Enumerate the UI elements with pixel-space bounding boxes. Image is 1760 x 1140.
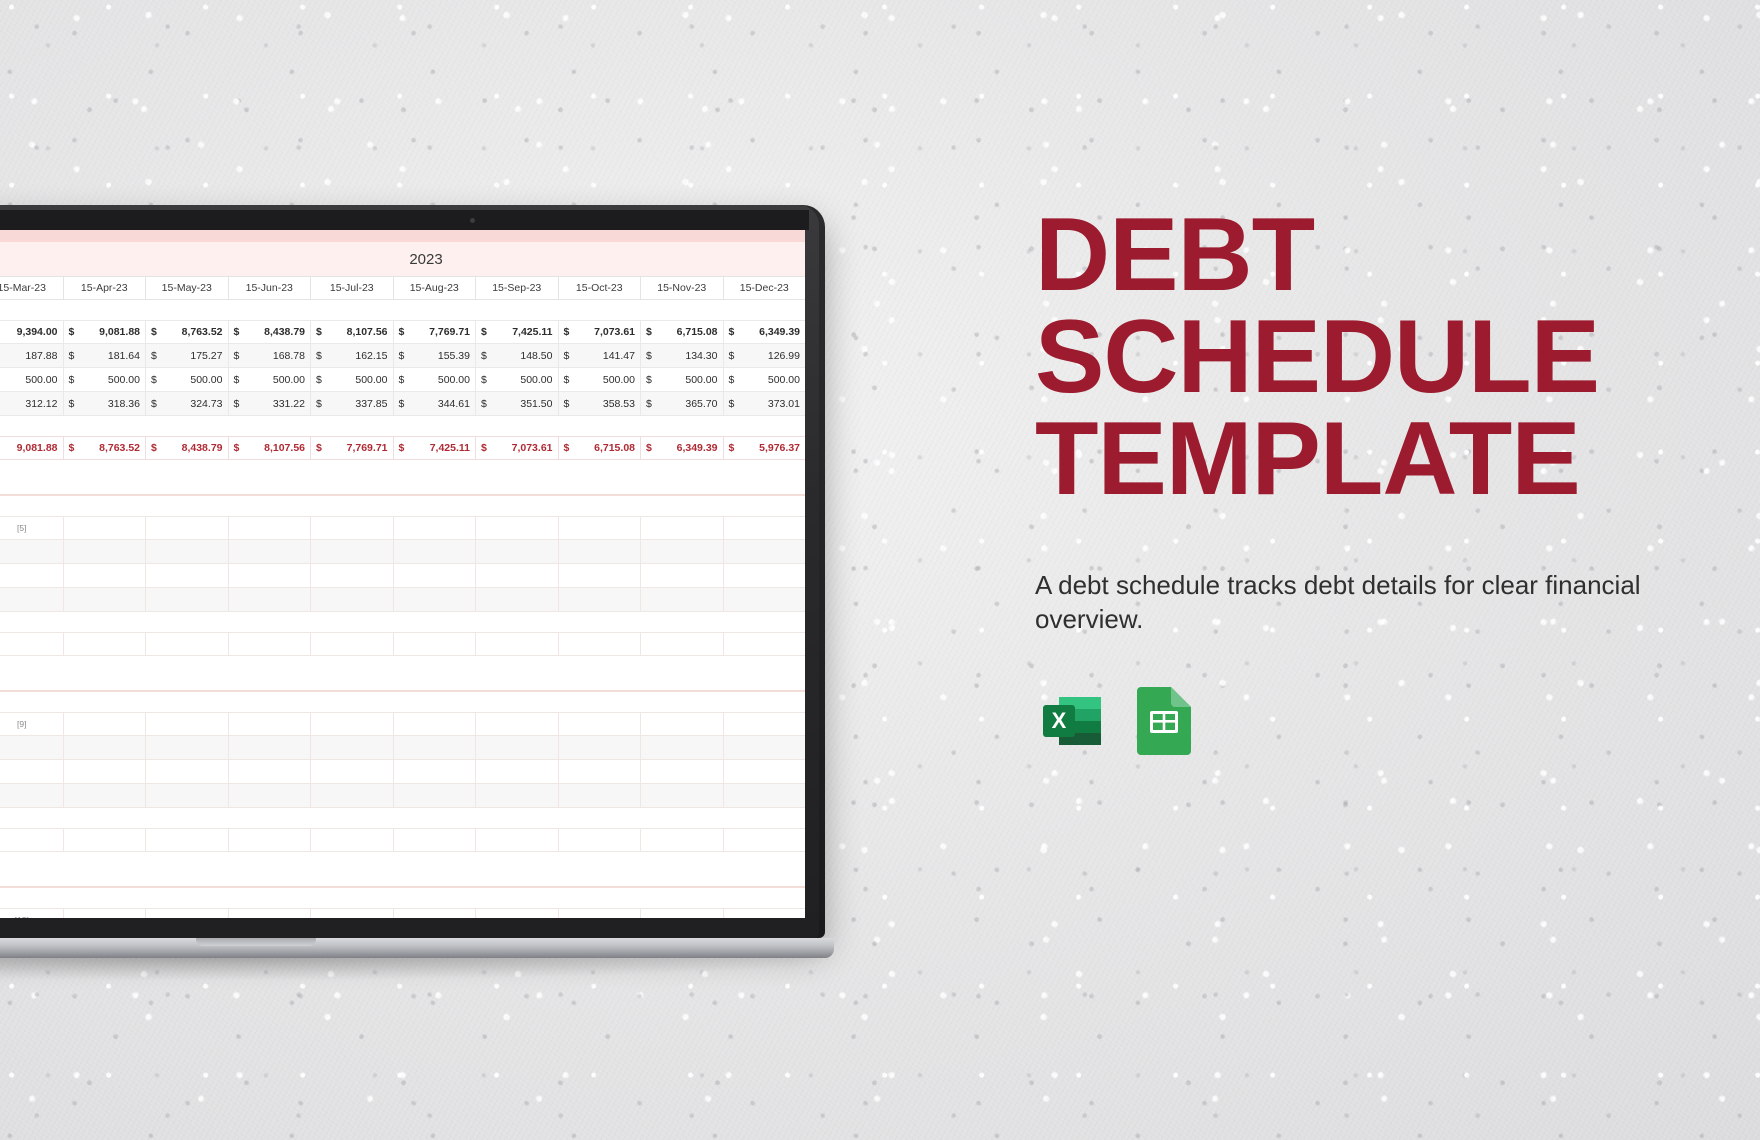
column-header-6[interactable]: 15-Jun-23 <box>229 276 312 300</box>
data-cell[interactable] <box>476 712 559 736</box>
cell-value: 500.00 <box>0 368 58 392</box>
table-row: Principal[12] <box>0 784 805 808</box>
data-cell[interactable] <box>146 540 229 564</box>
total-cell[interactable]: $7,073.61 <box>476 436 559 460</box>
data-cell[interactable] <box>476 516 559 540</box>
data-cell[interactable]: $358.53 <box>559 392 642 416</box>
data-cell[interactable]: $7,073.61 <box>559 320 642 344</box>
cell-value: 500.00 <box>74 368 140 392</box>
data-cell[interactable]: $324.73 <box>146 392 229 416</box>
data-cell[interactable] <box>229 712 312 736</box>
cell-value: 373.01 <box>734 392 800 416</box>
total-cell[interactable] <box>146 632 229 656</box>
spacer <box>0 656 805 690</box>
data-cell[interactable] <box>394 540 477 564</box>
data-cell[interactable] <box>311 516 394 540</box>
data-cell[interactable] <box>559 760 642 784</box>
data-cell[interactable]: $6,715.08 <box>641 320 724 344</box>
cell-value: 500.00 <box>239 368 305 392</box>
cell-value: 8,763.52 <box>157 320 223 344</box>
data-cell[interactable] <box>476 540 559 564</box>
data-cell[interactable] <box>724 908 806 918</box>
data-cell[interactable] <box>64 908 147 918</box>
column-header-4[interactable]: 15-Apr-23 <box>64 276 147 300</box>
data-cell[interactable] <box>64 784 147 808</box>
data-cell[interactable] <box>311 908 394 918</box>
data-cell[interactable] <box>559 588 642 612</box>
data-cell[interactable] <box>0 540 64 564</box>
data-cell[interactable] <box>311 760 394 784</box>
sheet-header-row: U L E2023 <box>0 230 805 276</box>
data-cell[interactable] <box>146 516 229 540</box>
cell-value: 8,107.56 <box>322 320 388 344</box>
data-cell[interactable] <box>229 784 312 808</box>
data-cell[interactable] <box>641 712 724 736</box>
data-cell[interactable]: [13] <box>0 908 64 918</box>
cell-value: 9,081.88 <box>0 436 58 460</box>
cell-value: 8,107.56 <box>239 436 305 460</box>
data-cell[interactable] <box>0 760 64 784</box>
data-cell[interactable] <box>146 908 229 918</box>
data-cell[interactable] <box>0 784 64 808</box>
spacer <box>0 808 805 828</box>
total-cell[interactable] <box>0 632 64 656</box>
laptop-base <box>0 938 834 958</box>
data-cell[interactable] <box>724 760 806 784</box>
column-header-row: 202315-Jan-2315-Feb-2315-Mar-2315-Apr-23… <box>0 276 805 300</box>
data-cell[interactable] <box>229 540 312 564</box>
data-cell[interactable] <box>311 712 394 736</box>
total-row: e <box>0 632 805 656</box>
data-cell[interactable] <box>724 784 806 808</box>
data-cell[interactable]: $337.85 <box>311 392 394 416</box>
excel-icon[interactable]: X <box>1035 684 1109 763</box>
data-cell[interactable] <box>146 712 229 736</box>
column-header-5[interactable]: 15-May-23 <box>146 276 229 300</box>
table-row: Principal[8] <box>0 588 805 612</box>
data-cell[interactable] <box>641 908 724 918</box>
total-cell[interactable]: $8,107.56 <box>229 436 312 460</box>
spacer <box>0 612 805 632</box>
cell-value: 181.64 <box>74 344 140 368</box>
total-cell[interactable]: $6,715.08 <box>559 436 642 460</box>
subtitle: A debt schedule tracks debt details for … <box>1035 569 1735 637</box>
data-cell[interactable] <box>229 760 312 784</box>
cell-value: 6,715.08 <box>569 436 635 460</box>
data-cell[interactable] <box>394 784 477 808</box>
data-cell[interactable] <box>559 712 642 736</box>
data-cell[interactable] <box>476 564 559 588</box>
cell-value: 9,394.00 <box>0 320 58 344</box>
data-cell[interactable] <box>64 516 147 540</box>
data-cell[interactable]: $8,438.79 <box>229 320 312 344</box>
cell-value: 148.50 <box>487 344 553 368</box>
data-cell[interactable] <box>641 564 724 588</box>
data-cell[interactable]: $9,394.00 <box>0 320 64 344</box>
data-cell[interactable] <box>641 784 724 808</box>
cell-value: 155.39 <box>404 344 470 368</box>
cell-value: 168.78 <box>239 344 305 368</box>
data-cell[interactable]: $148.50 <box>476 344 559 368</box>
data-cell[interactable] <box>724 736 806 760</box>
data-cell[interactable] <box>229 588 312 612</box>
table-row: ce$10,000.00$9,700.00[1]$9,394.00$9,081.… <box>0 320 805 344</box>
data-cell[interactable] <box>394 516 477 540</box>
column-header-10[interactable]: 15-Oct-23 <box>559 276 642 300</box>
laptop-shadow <box>0 958 836 980</box>
data-cell[interactable] <box>229 564 312 588</box>
total-cell[interactable] <box>476 828 559 852</box>
year-label: 2023 <box>409 251 442 268</box>
cell-value: 126.99 <box>734 344 800 368</box>
data-cell[interactable] <box>64 588 147 612</box>
data-cell[interactable] <box>229 736 312 760</box>
spacer <box>0 416 805 436</box>
data-cell[interactable] <box>64 540 147 564</box>
cell-value: 358.53 <box>569 392 635 416</box>
data-cell[interactable] <box>641 736 724 760</box>
data-cell[interactable] <box>0 588 64 612</box>
spacer <box>0 692 805 712</box>
total-cell[interactable] <box>724 828 806 852</box>
column-header-12[interactable]: 15-Dec-23 <box>724 276 806 300</box>
data-cell[interactable]: $141.47 <box>559 344 642 368</box>
table-row: ce[9] <box>0 712 805 736</box>
data-cell[interactable]: $500.00 <box>641 368 724 392</box>
cell-value: 7,425.11 <box>487 320 553 344</box>
cell-value: 162.15 <box>322 344 388 368</box>
table-row: [10][11] <box>0 736 805 760</box>
title-line-3: TEMPLATE <box>1035 401 1580 517</box>
cell-value: 365.70 <box>652 392 718 416</box>
table-row: Principal$300.00[4]$306.00$312.12$318.36… <box>0 392 805 416</box>
data-cell[interactable]: $155.39 <box>394 344 477 368</box>
total-cell[interactable] <box>559 632 642 656</box>
data-cell[interactable]: $500.00 <box>0 368 64 392</box>
cell-value: 9,081.88 <box>74 320 140 344</box>
data-cell[interactable]: $312.12 <box>0 392 64 416</box>
column-header-9[interactable]: 15-Sep-23 <box>476 276 559 300</box>
data-cell[interactable]: $181.64 <box>64 344 147 368</box>
cell-value: 6,349.39 <box>734 320 800 344</box>
cell-value: 500.00 <box>487 368 553 392</box>
data-cell[interactable] <box>559 784 642 808</box>
laptop-screen: U L E2023202315-Jan-2315-Feb-2315-Mar-23… <box>0 230 805 918</box>
data-cell[interactable] <box>64 760 147 784</box>
table-row: ment Amount <box>0 564 805 588</box>
data-cell[interactable] <box>476 784 559 808</box>
data-cell[interactable] <box>724 588 806 612</box>
data-cell[interactable] <box>641 516 724 540</box>
data-cell[interactable] <box>724 564 806 588</box>
data-cell[interactable]: $126.99 <box>724 344 806 368</box>
total-cell[interactable] <box>229 828 312 852</box>
laptop-mockup: U L E2023202315-Jan-2315-Feb-2315-Mar-23… <box>0 205 1076 971</box>
data-cell[interactable] <box>394 908 477 918</box>
cell-value: 331.22 <box>239 392 305 416</box>
table-row: ce[5] <box>0 516 805 540</box>
data-cell[interactable]: $500.00 <box>229 368 312 392</box>
data-cell[interactable] <box>476 588 559 612</box>
page-title: DEBT SCHEDULE TEMPLATE <box>1035 205 1735 511</box>
data-cell[interactable]: $365.70 <box>641 392 724 416</box>
format-icons: X <box>1035 684 1735 763</box>
total-cell[interactable] <box>64 632 147 656</box>
data-cell[interactable] <box>146 736 229 760</box>
accent-bar <box>0 230 805 242</box>
column-header-3[interactable]: 15-Mar-23 <box>0 276 64 300</box>
total-cell[interactable]: $8,438.79 <box>146 436 229 460</box>
data-cell[interactable]: $162.15 <box>311 344 394 368</box>
total-cell[interactable] <box>311 828 394 852</box>
cell-value: 500.00 <box>652 368 718 392</box>
data-cell[interactable] <box>559 540 642 564</box>
data-cell[interactable] <box>559 516 642 540</box>
data-cell[interactable] <box>724 516 806 540</box>
data-cell[interactable]: $8,763.52 <box>146 320 229 344</box>
data-cell[interactable] <box>311 588 394 612</box>
total-cell[interactable]: $7,425.11 <box>394 436 477 460</box>
total-cell[interactable] <box>146 828 229 852</box>
data-cell[interactable] <box>476 736 559 760</box>
table-row: ment Amount$500.00$500.00$500.00$500.00$… <box>0 368 805 392</box>
cell-value: 500.00 <box>569 368 635 392</box>
total-cell[interactable]: $5,976.37 <box>724 436 806 460</box>
data-cell[interactable] <box>394 736 477 760</box>
data-cell[interactable]: $500.00 <box>146 368 229 392</box>
laptop-base-notch <box>196 938 316 946</box>
data-cell[interactable] <box>229 908 312 918</box>
data-cell[interactable] <box>64 736 147 760</box>
cell-value: 7,769.71 <box>322 436 388 460</box>
data-cell[interactable] <box>146 784 229 808</box>
data-cell[interactable]: [5] <box>0 516 64 540</box>
data-cell[interactable]: $8,107.56 <box>311 320 394 344</box>
data-cell[interactable] <box>394 564 477 588</box>
spreadsheet[interactable]: U L E2023202315-Jan-2315-Feb-2315-Mar-23… <box>0 230 805 918</box>
spacer <box>0 888 805 908</box>
cell-value: 324.73 <box>157 392 223 416</box>
title-line-1: DEBT <box>1035 197 1314 313</box>
data-cell[interactable]: $500.00 <box>724 368 806 392</box>
cell-value: 8,763.52 <box>74 436 140 460</box>
cell-value: 7,073.61 <box>569 320 635 344</box>
cell-value: 500.00 <box>734 368 800 392</box>
spacer <box>0 496 805 516</box>
total-cell[interactable] <box>311 632 394 656</box>
cell-value: 8,438.79 <box>239 320 305 344</box>
spacer <box>0 852 805 886</box>
table-row: [6][7] <box>0 540 805 564</box>
data-cell[interactable]: $331.22 <box>229 392 312 416</box>
year-header-block: 2023 <box>0 230 805 276</box>
data-cell[interactable] <box>0 564 64 588</box>
data-cell[interactable]: $373.01 <box>724 392 806 416</box>
data-cell[interactable] <box>724 540 806 564</box>
data-cell[interactable] <box>0 736 64 760</box>
column-header-11[interactable]: 15-Nov-23 <box>641 276 724 300</box>
table-row: [2]$200.00[3]$194.00$187.88$181.64$175.2… <box>0 344 805 368</box>
data-cell[interactable] <box>641 540 724 564</box>
cell-value: 312.12 <box>0 392 58 416</box>
total-cell[interactable] <box>641 828 724 852</box>
cell-value: 8,438.79 <box>157 436 223 460</box>
cell-value: 337.85 <box>322 392 388 416</box>
spacer <box>0 460 805 494</box>
data-cell[interactable] <box>559 736 642 760</box>
title-line-2: SCHEDULE <box>1035 299 1599 415</box>
data-cell[interactable]: $351.50 <box>476 392 559 416</box>
total-cell[interactable] <box>641 632 724 656</box>
data-cell[interactable] <box>311 784 394 808</box>
data-cell[interactable] <box>64 564 147 588</box>
data-cell[interactable]: [9] <box>0 712 64 736</box>
column-header-7[interactable]: 15-Jul-23 <box>311 276 394 300</box>
data-cell[interactable]: $318.36 <box>64 392 147 416</box>
data-cell[interactable]: $500.00 <box>559 368 642 392</box>
cell-value: 5,976.37 <box>734 436 800 460</box>
data-cell[interactable] <box>641 760 724 784</box>
data-cell[interactable] <box>559 908 642 918</box>
data-cell[interactable] <box>394 760 477 784</box>
total-cell[interactable] <box>724 632 806 656</box>
total-cell[interactable]: $8,763.52 <box>64 436 147 460</box>
data-cell[interactable] <box>146 588 229 612</box>
data-cell[interactable] <box>476 908 559 918</box>
cell-value: 7,073.61 <box>487 436 553 460</box>
data-cell[interactable]: $344.61 <box>394 392 477 416</box>
total-cell[interactable] <box>394 632 477 656</box>
total-cell[interactable]: $7,769.71 <box>311 436 394 460</box>
data-cell[interactable]: $187.88 <box>0 344 64 368</box>
data-cell[interactable] <box>311 564 394 588</box>
data-cell[interactable] <box>394 712 477 736</box>
cell-value: 134.30 <box>652 344 718 368</box>
data-cell[interactable] <box>64 712 147 736</box>
cell-value: 318.36 <box>74 392 140 416</box>
data-cell[interactable] <box>146 760 229 784</box>
data-cell[interactable]: $500.00 <box>311 368 394 392</box>
data-cell[interactable]: $7,425.11 <box>476 320 559 344</box>
webcam-icon <box>470 218 475 223</box>
cell-value: 6,715.08 <box>652 320 718 344</box>
data-cell[interactable]: $500.00 <box>476 368 559 392</box>
year-label-cell: 2023 <box>0 242 805 276</box>
data-cell[interactable] <box>476 760 559 784</box>
svg-text:X: X <box>1052 708 1067 733</box>
data-cell[interactable]: $7,769.71 <box>394 320 477 344</box>
cell-value: 500.00 <box>157 368 223 392</box>
data-cell[interactable] <box>559 564 642 588</box>
data-cell[interactable] <box>641 588 724 612</box>
total-cell[interactable]: $9,081.88 <box>0 436 64 460</box>
total-cell[interactable] <box>559 828 642 852</box>
total-cell[interactable] <box>0 828 64 852</box>
total-cell[interactable] <box>64 828 147 852</box>
total-cell[interactable] <box>394 828 477 852</box>
data-cell[interactable]: $175.27 <box>146 344 229 368</box>
google-sheets-icon[interactable] <box>1131 684 1197 763</box>
data-cell[interactable] <box>311 736 394 760</box>
data-cell[interactable] <box>394 588 477 612</box>
data-cell[interactable] <box>229 516 312 540</box>
total-row: e$9,700.00$9,394.00$9,081.88$8,763.52$8,… <box>0 436 805 460</box>
data-cell[interactable] <box>146 564 229 588</box>
cell-value: 6,349.39 <box>652 436 718 460</box>
cell-value: 7,769.71 <box>404 320 470 344</box>
cell-value: 500.00 <box>322 368 388 392</box>
total-row: e <box>0 828 805 852</box>
cell-value: 175.27 <box>157 344 223 368</box>
data-cell[interactable]: $500.00 <box>64 368 147 392</box>
column-header-8[interactable]: 15-Aug-23 <box>394 276 477 300</box>
laptop-top-bezel <box>0 210 809 230</box>
total-cell[interactable] <box>476 632 559 656</box>
table-row: ce[13] <box>0 908 805 918</box>
cell-value: 351.50 <box>487 392 553 416</box>
laptop-lid: U L E2023202315-Jan-2315-Feb-2315-Mar-23… <box>0 205 825 938</box>
cell-value: 7,425.11 <box>404 436 470 460</box>
data-cell[interactable]: $500.00 <box>394 368 477 392</box>
spacer <box>0 300 805 320</box>
cell-value: 141.47 <box>569 344 635 368</box>
total-cell[interactable]: $6,349.39 <box>641 436 724 460</box>
data-cell[interactable] <box>724 712 806 736</box>
cell-value: 344.61 <box>404 392 470 416</box>
cell-value: 500.00 <box>404 368 470 392</box>
promo-panel: DEBT SCHEDULE TEMPLATE A debt schedule t… <box>1035 205 1735 763</box>
table-row: ment Amount <box>0 760 805 784</box>
data-cell[interactable]: $9,081.88 <box>64 320 147 344</box>
data-cell[interactable] <box>311 540 394 564</box>
data-cell[interactable]: $6,349.39 <box>724 320 806 344</box>
total-cell[interactable] <box>229 632 312 656</box>
data-cell[interactable]: $168.78 <box>229 344 312 368</box>
cell-value: 187.88 <box>0 344 58 368</box>
data-cell[interactable]: $134.30 <box>641 344 724 368</box>
